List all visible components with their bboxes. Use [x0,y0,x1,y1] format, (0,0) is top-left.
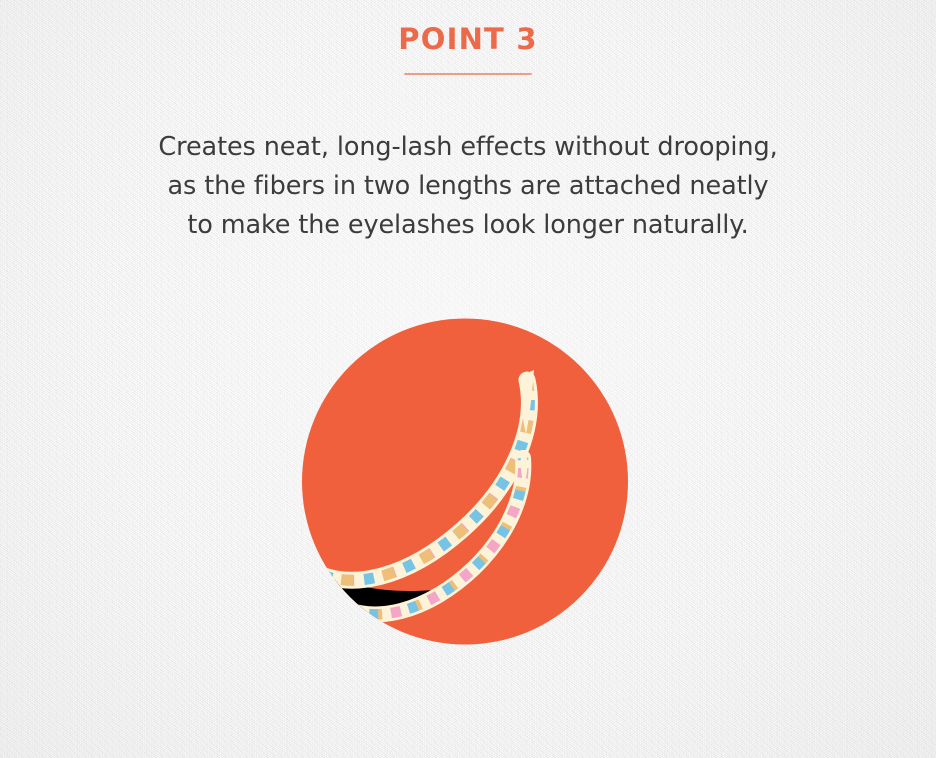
description-line-2: as the fibers in two lengths are attache… [0,167,936,206]
header: POINT 3 [0,24,936,75]
slide-canvas: POINT 3 Creates neat, long-lash effects … [0,0,936,758]
description-line-1: Creates neat, long-lash effects without … [0,128,936,167]
page-title: POINT 3 [0,24,936,56]
description-text-block: Creates neat, long-lash effects without … [0,128,936,245]
title-underline-divider [404,73,532,75]
eyelash-crescent-illustration [302,318,628,645]
description-line-3: to make the eyelashes look longer natura… [0,206,936,245]
